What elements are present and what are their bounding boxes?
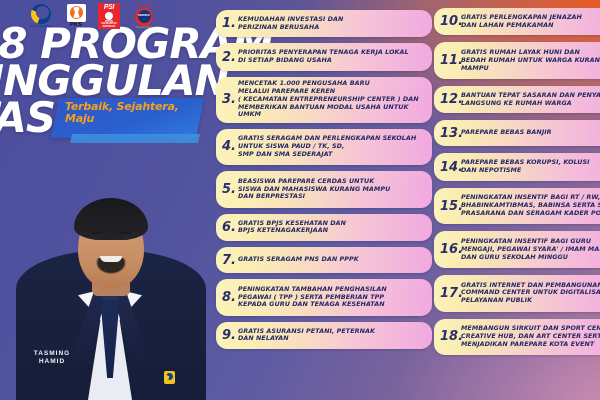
program-item-number: 13. — [440, 127, 461, 140]
tagline-banner: Terbaik, Sejahtera, Maju — [55, 98, 200, 138]
program-item-number: 10. — [440, 15, 461, 28]
tagline-banner-accent — [70, 134, 200, 143]
program-item-number: 14. — [440, 161, 461, 174]
program-item-number: 15. — [440, 200, 461, 213]
program-item[interactable]: 12.BANTUAN TEPAT SASARAN DAN PENYA LANGS… — [434, 86, 600, 113]
program-item[interactable]: 17.GRATIS INTERNET DAN PEMBANGUNAN COMMA… — [434, 275, 600, 312]
pks-mark-icon — [67, 4, 86, 22]
program-column-right: 10.GRATIS PERLENGKAPAN JENAZAH DAN LAHAN… — [434, 8, 600, 355]
program-item-number: 4. — [222, 140, 238, 153]
program-item-text: MEMBANGUN SIRKUIT DAN SPORT CEN CREATIVE… — [461, 325, 600, 348]
perindo-logo-tagline: Teruang Maju — [136, 26, 152, 29]
candidate-photo: TASMING HAMID — [16, 128, 206, 400]
suit-name-embroidery: TASMING HAMID — [23, 350, 81, 366]
program-item[interactable]: 15.PENINGKATAN INSENTIF BAGI RT / RW, BH… — [434, 188, 600, 225]
program-column-left: 1.KEMUDAHAN INVESTASI DAN PERIZINAN BERU… — [216, 10, 432, 349]
nasdem-logo: Partai NasDem — [26, 1, 56, 31]
psi-mark-icon: PSI PARTAI SOLIDARITAS INDONESIA — [98, 3, 120, 29]
psi-logo: PSI PARTAI SOLIDARITAS INDONESIA — [96, 1, 122, 31]
program-item-text: PENINGKATAN INSENTIF BAGI RT / RW, BHABI… — [461, 194, 600, 217]
program-item[interactable]: 14.PAREPARE BEBAS KORUPSI, KOLUSI DAN NE… — [434, 153, 600, 180]
photo-eye-right — [120, 237, 130, 241]
psi-rose-icon — [105, 12, 113, 20]
program-item-number: 1. — [222, 17, 238, 30]
program-item-text: GRATIS RUMAH LAYAK HUNI DAN BEDAH RUMAH … — [461, 49, 600, 72]
program-item-number: 16. — [440, 243, 461, 256]
program-item-text: KEMUDAHAN INVESTASI DAN PERIZINAN BERUSA… — [238, 16, 343, 32]
program-item-number: 11. — [440, 54, 461, 67]
party-logos-row: Partai NasDem PKS PSI PARTAI SOLIDARITAS… — [26, 1, 160, 31]
program-item[interactable]: 16.PENINGKATAN INSENTIF BAGI GURU MENGAJ… — [434, 231, 600, 268]
program-item-number: 8. — [222, 291, 238, 304]
program-item[interactable]: 5.BEASISWA PAREPARE CERDAS UNTUK SISWA D… — [216, 171, 432, 208]
program-item[interactable]: 4.GRATIS SERAGAM DAN PERLENGKAPAN SEKOLA… — [216, 129, 432, 166]
tagline-text: Terbaik, Sejahtera, Maju — [65, 101, 200, 124]
program-item-number: 3. — [222, 93, 238, 106]
program-item-text: GRATIS SERAGAM PNS DAN PPPK — [238, 256, 359, 264]
program-item-number: 9. — [222, 329, 238, 342]
nasdem-crescent-icon — [31, 4, 51, 24]
pks-logo: PKS — [62, 1, 90, 31]
program-item[interactable]: 7.GRATIS SERAGAM PNS DAN PPPK — [216, 247, 432, 273]
program-item[interactable]: 13.PAREPARE BEBAS BANJIR — [434, 120, 600, 146]
program-item[interactable]: 11.GRATIS RUMAH LAYAK HUNI DAN BEDAH RUM… — [434, 42, 600, 79]
photo-mouth — [100, 256, 122, 262]
program-item[interactable]: 18.MEMBANGUN SIRKUIT DAN SPORT CEN CREAT… — [434, 319, 600, 356]
program-item[interactable]: 6.GRATIS BPJS KESEHATAN DAN BPJS KETENAG… — [216, 214, 432, 241]
pks-logo-label: PKS — [70, 23, 82, 29]
campaign-poster: Partai NasDem PKS PSI PARTAI SOLIDARITAS… — [0, 0, 600, 400]
program-item-text: GRATIS SERAGAM DAN PERLENGKAPAN SEKOLAH … — [238, 135, 416, 158]
program-item-number: 7. — [222, 254, 238, 267]
program-item-text: BEASISWA PAREPARE CERDAS UNTUK SISWA DAN… — [238, 178, 390, 201]
program-item-text: PENINGKATAN INSENTIF BAGI GURU MENGAJI, … — [461, 238, 600, 261]
photo-eyebrow-left — [91, 232, 103, 235]
program-item-text: GRATIS BPJS KESEHATAN DAN BPJS KETENAGAK… — [238, 220, 346, 236]
program-item[interactable]: 10.GRATIS PERLENGKAPAN JENAZAH DAN LAHAN… — [434, 8, 600, 35]
program-item-text: GRATIS INTERNET DAN PEMBANGUNAN COMMAND … — [461, 282, 600, 305]
program-item-text: GRATIS PERLENGKAPAN JENAZAH DAN LAHAN PE… — [461, 14, 600, 30]
program-item[interactable]: 2.PRIORITAS PENYERAPAN TENAGA KERJA LOKA… — [216, 43, 432, 70]
program-item[interactable]: 3.MENCETAK 1.000 PENGUSAHA BARU MELALUI … — [216, 77, 432, 123]
perindo-logo-toptext: YME NEXT! — [135, 3, 153, 7]
program-item-text: PAREPARE BEBAS KORUPSI, KOLUSI DAN NEPOT… — [461, 159, 600, 175]
perindo-logo: YME NEXT! PERINDO Teruang Maju — [128, 1, 160, 31]
psi-logo-sublabel: PARTAI SOLIDARITAS INDONESIA — [98, 21, 120, 28]
program-item-number: 2. — [222, 51, 238, 64]
psi-logo-label: PSI — [104, 4, 114, 11]
program-item-text: PENINGKATAN TAMBAHAN PENGHASILAN PEGAWAI… — [238, 286, 387, 309]
photo-eye-left — [92, 237, 102, 241]
nasdem-logo-label: Partai NasDem — [31, 25, 52, 28]
program-item[interactable]: 1.KEMUDAHAN INVESTASI DAN PERIZINAN BERU… — [216, 10, 432, 37]
program-item-text: BANTUAN TEPAT SASARAN DAN PENYA LANGSUNG… — [461, 92, 600, 108]
photo-eyebrow-right — [119, 232, 131, 235]
program-item-number: 17. — [440, 287, 461, 300]
program-item-text: PAREPARE BEBAS BANJIR — [461, 129, 600, 137]
program-item[interactable]: 8.PENINGKATAN TAMBAHAN PENGHASILAN PEGAW… — [216, 279, 432, 316]
program-item-number: 18. — [440, 330, 461, 343]
photo-hair — [74, 198, 148, 240]
program-item-number: 6. — [222, 221, 238, 234]
nasdem-lapel-pin-icon — [164, 371, 175, 384]
perindo-logo-label: PERINDO — [138, 15, 150, 18]
perindo-mark-icon: PERINDO — [135, 8, 153, 26]
program-item-number: 5. — [222, 183, 238, 196]
program-item-text: PRIORITAS PENYERAPAN TENAGA KERJA LOKAL … — [238, 49, 409, 65]
program-item[interactable]: 9.GRATIS ASURANSI PETANI, PETERNAK DAN N… — [216, 322, 432, 349]
program-item-text: GRATIS ASURANSI PETANI, PETERNAK DAN NEL… — [238, 328, 375, 344]
left-panel: Partai NasDem PKS PSI PARTAI SOLIDARITAS… — [0, 0, 218, 400]
program-item-number: 12. — [440, 93, 461, 106]
program-item-text: MENCETAK 1.000 PENGUSAHA BARU MELALUI PA… — [238, 80, 428, 119]
